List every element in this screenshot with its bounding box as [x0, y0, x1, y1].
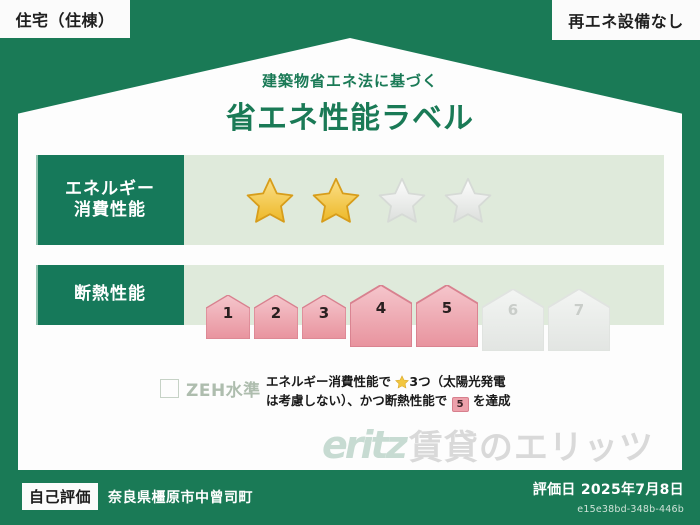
insulation-grade-value: 1	[223, 298, 233, 322]
footer-bar: 自己評価 奈良県橿原市中曾司町 評価日 2025年7月8日 e15e38bd-3…	[0, 470, 700, 525]
document-id: e15e38bd-348b-446b	[577, 504, 684, 515]
energy-performance-row: エネルギー 消費性能	[36, 155, 664, 245]
insulation-performance-body: 1234567	[184, 265, 664, 325]
insulation-grade-value: 3	[319, 298, 329, 322]
insulation-grade-5: 5	[416, 285, 478, 325]
insulation-grade-7: 7	[548, 289, 610, 325]
zeh-standard-label: ZEH水準	[186, 376, 261, 401]
energy-label-card: 住宅（住棟） 再エネ設備なし 建築物省エネ法に基づく 省エネ性能ラベル エネルギ…	[0, 0, 700, 525]
property-address: 奈良県橿原市中曾司町	[108, 487, 253, 507]
energy-performance-label: エネルギー 消費性能	[36, 155, 184, 245]
renewable-energy-label: 再エネ設備なし	[568, 8, 684, 32]
evaluation-date: 評価日 2025年7月8日	[533, 479, 684, 499]
zeh-description-part1: エネルギー消費性能で	[266, 374, 391, 389]
insulation-grade-value: 2	[271, 298, 281, 322]
insulation-grade-2: 2	[254, 295, 298, 325]
insulation-performance-label-text: 断熱性能	[74, 284, 146, 305]
label-subtitle: 建築物省エネ法に基づく	[0, 70, 700, 91]
insulation-grade-3: 3	[302, 295, 346, 325]
insulation-grade-value: 5	[442, 293, 452, 317]
insulation-grade-value: 7	[574, 295, 584, 319]
building-type-tab: 住宅（住棟）	[0, 0, 130, 38]
insulation-grade-1: 1	[206, 295, 250, 325]
insulation-grade-scale: 1234567	[184, 265, 610, 325]
zeh-description-grade-badge: 5	[452, 397, 469, 412]
energy-performance-label-line2: 消費性能	[74, 200, 146, 221]
zeh-description-part4: を達成	[473, 393, 511, 408]
insulation-grade-value: 4	[376, 293, 386, 317]
star-icon-filled	[246, 176, 294, 224]
self-evaluation-badge: 自己評価	[22, 483, 98, 510]
insulation-performance-label: 断熱性能	[36, 265, 184, 325]
insulation-grade-value: 6	[508, 295, 518, 319]
insulation-grade-4: 4	[350, 285, 412, 325]
energy-performance-label-line1: エネルギー	[65, 179, 155, 200]
star-icon-empty	[444, 176, 492, 224]
star-icon-filled	[312, 176, 360, 224]
zeh-description: エネルギー消費性能で 3つ（太陽光発電 は考慮しない）、かつ断熱性能で 5 を達…	[266, 372, 566, 412]
zeh-description-part2: 3つ（太陽光発電	[409, 374, 505, 389]
insulation-grade-6: 6	[482, 289, 544, 325]
star-icon	[395, 375, 409, 389]
zeh-description-part3: は考慮しない）、かつ断熱性能で	[266, 393, 447, 408]
star-icon-empty	[378, 176, 426, 224]
label-title: 省エネ性能ラベル	[0, 93, 700, 137]
star-rating	[184, 176, 492, 224]
building-type-label: 住宅（住棟）	[15, 7, 114, 31]
energy-performance-body	[184, 155, 664, 245]
insulation-performance-row: 断熱性能 1234567	[36, 265, 664, 325]
renewable-energy-tab: 再エネ設備なし	[552, 0, 700, 40]
zeh-checkbox-icon	[160, 379, 179, 398]
zeh-standard: ZEH水準	[160, 376, 261, 401]
